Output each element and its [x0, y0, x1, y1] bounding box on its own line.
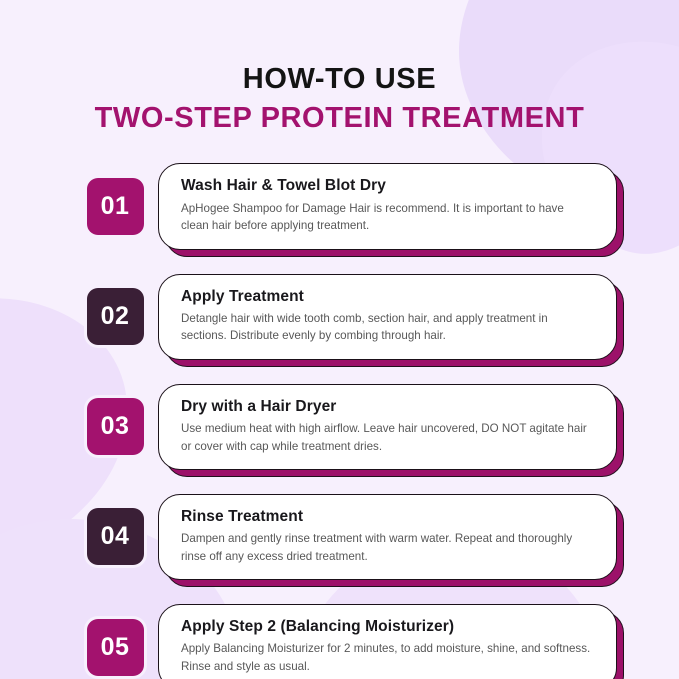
step-badge-wrapper: 02 [84, 286, 146, 348]
step-badge-wrapper: 03 [84, 396, 146, 458]
poster-header: HOW-TO USE TWO-STEP PROTEIN TREATMENT [0, 0, 679, 135]
step-description: Detangle hair with wide tooth comb, sect… [181, 310, 594, 345]
step-card: Wash Hair & Towel Blot DryApHogee Shampo… [158, 163, 617, 249]
step-card: Dry with a Hair DryerUse medium heat wit… [158, 384, 617, 470]
step-item: 05Apply Step 2 (Balancing Moisturizer)Ap… [84, 604, 617, 679]
step-number-label: 05 [101, 635, 130, 660]
step-title: Dry with a Hair Dryer [181, 397, 594, 416]
step-description: Use medium heat with high airflow. Leave… [181, 420, 594, 455]
step-card-wrapper: Apply Step 2 (Balancing Moisturizer)Appl… [158, 604, 617, 679]
step-description: Apply Balancing Moisturizer for 2 minute… [181, 640, 594, 675]
step-item: 03Dry with a Hair DryerUse medium heat w… [84, 384, 617, 470]
step-title: Wash Hair & Towel Blot Dry [181, 176, 594, 195]
step-card-wrapper: Wash Hair & Towel Blot DryApHogee Shampo… [158, 163, 617, 249]
step-title: Rinse Treatment [181, 507, 594, 526]
step-title: Apply Treatment [181, 287, 594, 306]
step-card-wrapper: Dry with a Hair DryerUse medium heat wit… [158, 384, 617, 470]
step-card-wrapper: Rinse TreatmentDampen and gently rinse t… [158, 494, 617, 580]
infographic-poster: HOW-TO USE TWO-STEP PROTEIN TREATMENT 01… [0, 0, 679, 679]
step-item: 02Apply TreatmentDetangle hair with wide… [84, 274, 617, 360]
step-description: Dampen and gently rinse treatment with w… [181, 530, 594, 565]
step-card: Apply TreatmentDetangle hair with wide t… [158, 274, 617, 360]
step-badge-wrapper: 05 [84, 616, 146, 678]
page-title-secondary: TWO-STEP PROTEIN TREATMENT [0, 101, 679, 135]
step-description: ApHogee Shampoo for Damage Hair is recom… [181, 200, 594, 235]
step-badge-wrapper: 04 [84, 506, 146, 568]
step-number-label: 01 [101, 194, 130, 219]
step-card: Rinse TreatmentDampen and gently rinse t… [158, 494, 617, 580]
step-number-label: 02 [101, 304, 130, 329]
step-number-label: 04 [101, 524, 130, 549]
step-item: 01Wash Hair & Towel Blot DryApHogee Sham… [84, 163, 617, 249]
step-number-badge: 04 [87, 508, 144, 565]
step-item: 04Rinse TreatmentDampen and gently rinse… [84, 494, 617, 580]
steps-list: 01Wash Hair & Towel Blot DryApHogee Sham… [0, 163, 679, 679]
step-number-badge: 05 [87, 619, 144, 676]
step-card: Apply Step 2 (Balancing Moisturizer)Appl… [158, 604, 617, 679]
step-title: Apply Step 2 (Balancing Moisturizer) [181, 617, 594, 636]
step-badge-wrapper: 01 [84, 176, 146, 238]
page-title-primary: HOW-TO USE [0, 62, 679, 96]
step-card-wrapper: Apply TreatmentDetangle hair with wide t… [158, 274, 617, 360]
step-number-badge: 02 [87, 288, 144, 345]
step-number-badge: 03 [87, 398, 144, 455]
step-number-label: 03 [101, 414, 130, 439]
step-number-badge: 01 [87, 178, 144, 235]
